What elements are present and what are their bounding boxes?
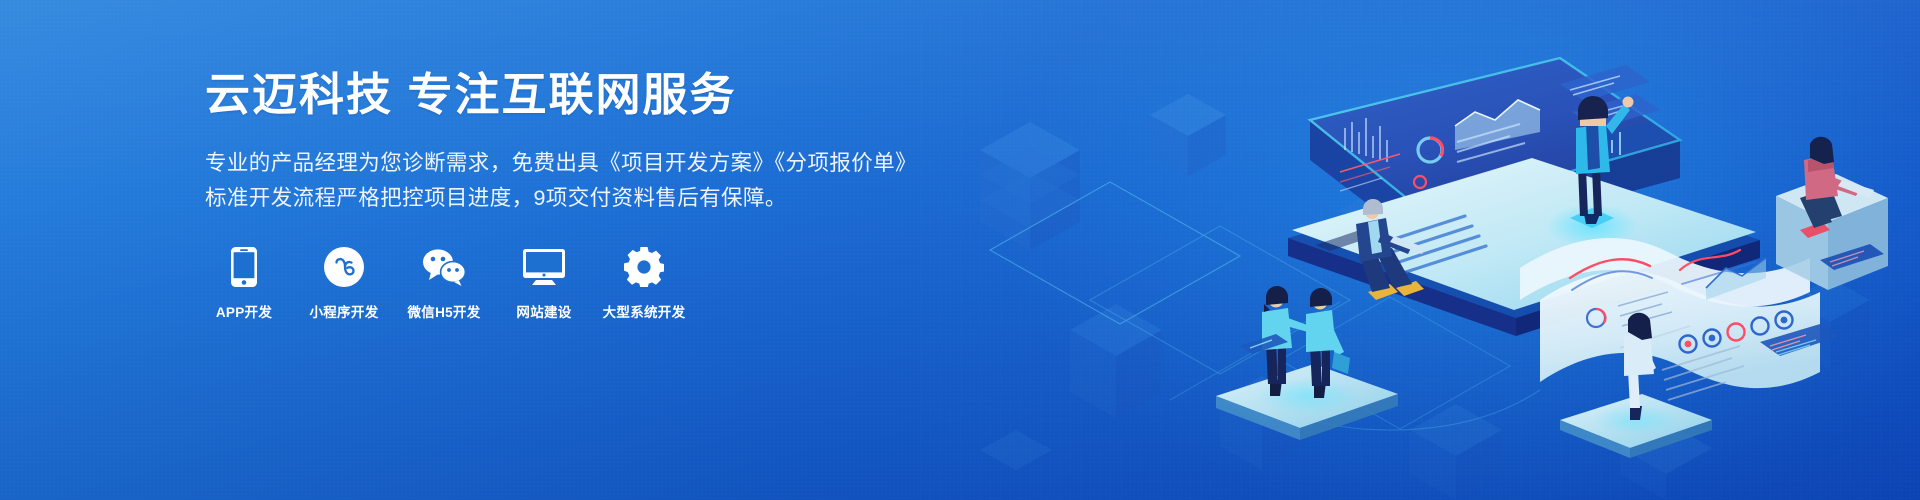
- mobile-phone-icon: [231, 246, 257, 288]
- page-title: 云迈科技 专注互联网服务: [205, 68, 905, 121]
- banner-content: 云迈科技 专注互联网服务 专业的产品经理为您诊断需求，免费出具《项目开发方案》《…: [205, 68, 905, 321]
- service-list: APP开发 小程序开发: [205, 246, 905, 321]
- service-item-website[interactable]: 网站建设: [505, 246, 583, 321]
- mini-program-icon: [324, 246, 364, 288]
- subtitle-line-1: 专业的产品经理为您诊断需求，免费出具《项目开发方案》《分项报价单》: [205, 146, 905, 181]
- service-item-app[interactable]: APP开发: [205, 246, 283, 321]
- hero-banner: 云迈科技 专注互联网服务 专业的产品经理为您诊断需求，免费出具《项目开发方案》《…: [0, 0, 1920, 500]
- monitor-icon: [523, 246, 565, 288]
- gear-icon: [624, 246, 664, 288]
- service-label: 网站建设: [516, 301, 571, 321]
- service-item-wechat-h5[interactable]: 微信H5开发: [405, 246, 483, 321]
- subtitle-block: 专业的产品经理为您诊断需求，免费出具《项目开发方案》《分项报价单》 标准开发流程…: [205, 146, 905, 216]
- illustration-container: [920, 0, 1920, 500]
- isometric-tech-illustration: [920, 0, 1920, 500]
- service-label: APP开发: [216, 301, 272, 321]
- subtitle-line-2: 标准开发流程严格把控项目进度，9项交付资料售后有保障。: [205, 181, 905, 216]
- service-item-miniprogram[interactable]: 小程序开发: [305, 246, 383, 321]
- service-item-large-system[interactable]: 大型系统开发: [605, 246, 683, 321]
- wechat-icon: [422, 246, 466, 288]
- service-label: 大型系统开发: [603, 301, 686, 321]
- service-label: 小程序开发: [310, 301, 379, 321]
- service-label: 微信H5开发: [407, 301, 480, 321]
